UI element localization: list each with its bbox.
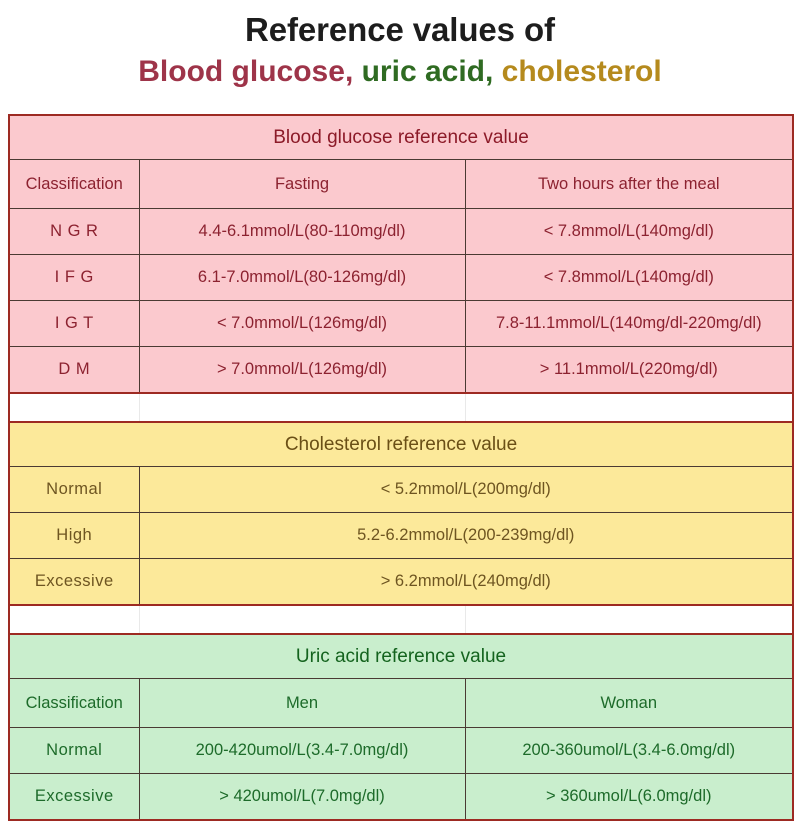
title-separator-2: , bbox=[485, 55, 502, 88]
cell-men: 200-420umol/L(3.4-7.0mg/dl) bbox=[139, 728, 465, 774]
cell-men: > 420umol/L(7.0mg/dl) bbox=[139, 774, 465, 821]
header-classification: Classification bbox=[9, 160, 139, 209]
title-line-secondary: Blood glucose, uric acid, cholesterol bbox=[0, 52, 800, 92]
header-men: Men bbox=[139, 679, 465, 728]
title-segment-uric-acid: uric acid bbox=[362, 55, 485, 88]
title-line-primary: Reference values of bbox=[0, 8, 800, 52]
table-header-row: Classification Fasting Two hours after t… bbox=[9, 160, 793, 209]
title-separator-1: , bbox=[345, 55, 362, 88]
table-spacer-band bbox=[8, 394, 794, 421]
table-row: D M > 7.0mmol/L(126mg/dl) > 11.1mmol/L(2… bbox=[9, 347, 793, 394]
cell-classification: I F G bbox=[9, 255, 139, 301]
cell-classification: D M bbox=[9, 347, 139, 394]
title-segment-cholesterol: cholesterol bbox=[502, 55, 662, 88]
blood-glucose-table-title: Blood glucose reference value bbox=[9, 115, 793, 160]
table-title-row: Uric acid reference value bbox=[9, 634, 793, 679]
uric-acid-table-title: Uric acid reference value bbox=[9, 634, 793, 679]
table-row: N G R 4.4-6.1mmol/L(80-110mg/dl) < 7.8mm… bbox=[9, 209, 793, 255]
cell-classification: Excessive bbox=[9, 559, 139, 606]
cell-classification: Normal bbox=[9, 728, 139, 774]
table-spacer-band bbox=[8, 606, 794, 633]
cell-value: < 5.2mmol/L(200mg/dl) bbox=[139, 467, 793, 513]
title-segment-blood-glucose: Blood glucose bbox=[138, 55, 345, 88]
table-row: Excessive > 420umol/L(7.0mg/dl) > 360umo… bbox=[9, 774, 793, 821]
header-woman: Woman bbox=[465, 679, 793, 728]
cholesterol-table: Cholesterol reference value Normal < 5.2… bbox=[8, 421, 794, 606]
cell-fasting: 6.1-7.0mmol/L(80-126mg/dl) bbox=[139, 255, 465, 301]
cell-fasting: 4.4-6.1mmol/L(80-110mg/dl) bbox=[139, 209, 465, 255]
table-row: High 5.2-6.2mmol/L(200-239mg/dl) bbox=[9, 513, 793, 559]
cell-classification: Normal bbox=[9, 467, 139, 513]
cell-after-meal: 7.8-11.1mmol/L(140mg/dl-220mg/dl) bbox=[465, 301, 793, 347]
cell-fasting: > 7.0mmol/L(126mg/dl) bbox=[139, 347, 465, 394]
cell-after-meal: < 7.8mmol/L(140mg/dl) bbox=[465, 209, 793, 255]
header-classification: Classification bbox=[9, 679, 139, 728]
blood-glucose-table: Blood glucose reference value Classifica… bbox=[8, 114, 794, 394]
table-row: Normal < 5.2mmol/L(200mg/dl) bbox=[9, 467, 793, 513]
cell-woman: 200-360umol/L(3.4-6.0mg/dl) bbox=[465, 728, 793, 774]
tables-container: Blood glucose reference value Classifica… bbox=[8, 114, 792, 821]
cell-classification: N G R bbox=[9, 209, 139, 255]
cell-classification: Excessive bbox=[9, 774, 139, 821]
cell-value: > 6.2mmol/L(240mg/dl) bbox=[139, 559, 793, 606]
cell-classification: I G T bbox=[9, 301, 139, 347]
cell-after-meal: < 7.8mmol/L(140mg/dl) bbox=[465, 255, 793, 301]
table-row: I F G 6.1-7.0mmol/L(80-126mg/dl) < 7.8mm… bbox=[9, 255, 793, 301]
table-title-row: Cholesterol reference value bbox=[9, 422, 793, 467]
reference-values-poster: Reference values of Blood glucose, uric … bbox=[0, 0, 800, 800]
cell-after-meal: > 11.1mmol/L(220mg/dl) bbox=[465, 347, 793, 394]
cell-classification: High bbox=[9, 513, 139, 559]
table-row: Excessive > 6.2mmol/L(240mg/dl) bbox=[9, 559, 793, 606]
cell-fasting: < 7.0mmol/L(126mg/dl) bbox=[139, 301, 465, 347]
table-row: Normal 200-420umol/L(3.4-7.0mg/dl) 200-3… bbox=[9, 728, 793, 774]
table-title-row: Blood glucose reference value bbox=[9, 115, 793, 160]
poster-title: Reference values of Blood glucose, uric … bbox=[0, 0, 800, 92]
table-row: I G T < 7.0mmol/L(126mg/dl) 7.8-11.1mmol… bbox=[9, 301, 793, 347]
cell-woman: > 360umol/L(6.0mg/dl) bbox=[465, 774, 793, 821]
header-fasting: Fasting bbox=[139, 160, 465, 209]
table-header-row: Classification Men Woman bbox=[9, 679, 793, 728]
header-two-hours-after-meal: Two hours after the meal bbox=[465, 160, 793, 209]
cell-value: 5.2-6.2mmol/L(200-239mg/dl) bbox=[139, 513, 793, 559]
cholesterol-table-title: Cholesterol reference value bbox=[9, 422, 793, 467]
uric-acid-table: Uric acid reference value Classification… bbox=[8, 633, 794, 821]
